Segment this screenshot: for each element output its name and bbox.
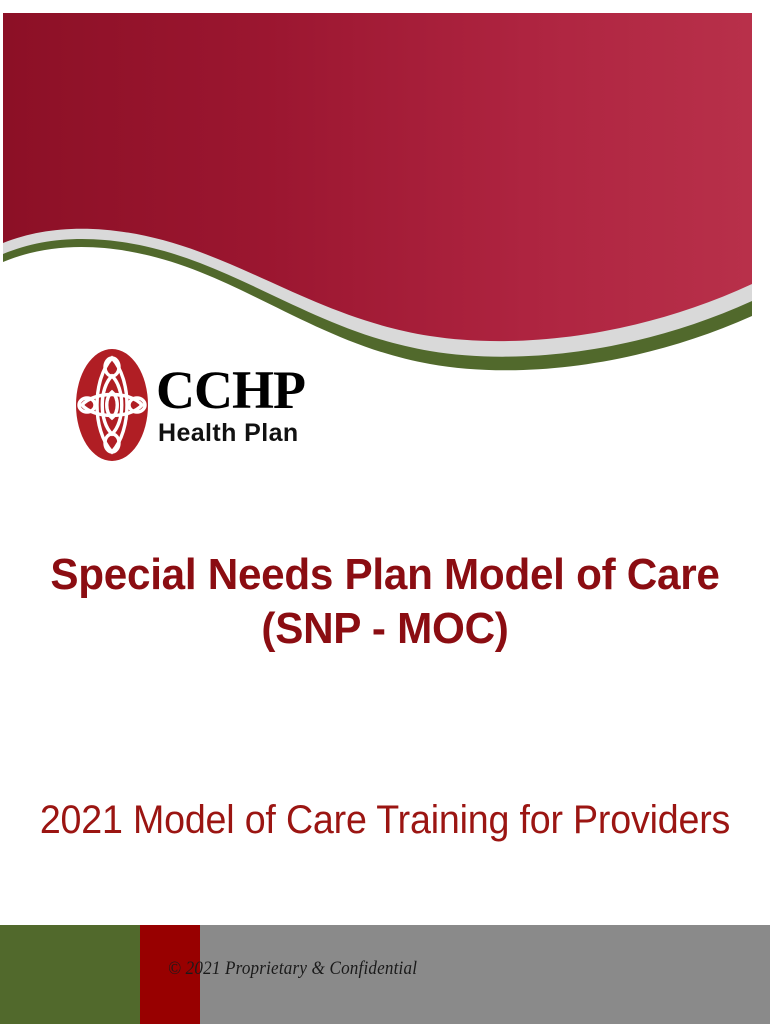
wave-red-body bbox=[3, 13, 752, 341]
wave-gray-stripe bbox=[3, 13, 752, 357]
title-line-1: Special Needs Plan Model of Care bbox=[15, 548, 754, 602]
page-title: Special Needs Plan Model of Care (SNP - … bbox=[0, 548, 770, 655]
cchp-logo: CCHP Health Plan bbox=[74, 344, 304, 466]
slide-canvas: CCHP Health Plan Special Needs Plan Mode… bbox=[0, 0, 770, 1024]
decorative-wave-header bbox=[0, 0, 770, 380]
logo-wordmark: CCHP Health Plan bbox=[156, 364, 305, 446]
cchp-knot-emblem-icon bbox=[74, 346, 150, 464]
footer-green-band bbox=[0, 925, 140, 1024]
wave-green-band bbox=[3, 13, 752, 370]
copyright-notice: © 2021 Proprietary & Confidential bbox=[168, 958, 417, 980]
page-subtitle: 2021 Model of Care Training for Provider… bbox=[23, 796, 747, 844]
title-block: Special Needs Plan Model of Care (SNP - … bbox=[15, 548, 754, 655]
logo-brand-text: CCHP bbox=[156, 364, 305, 417]
logo-tagline-text: Health Plan bbox=[158, 421, 305, 446]
title-line-2: (SNP - MOC) bbox=[15, 602, 754, 656]
